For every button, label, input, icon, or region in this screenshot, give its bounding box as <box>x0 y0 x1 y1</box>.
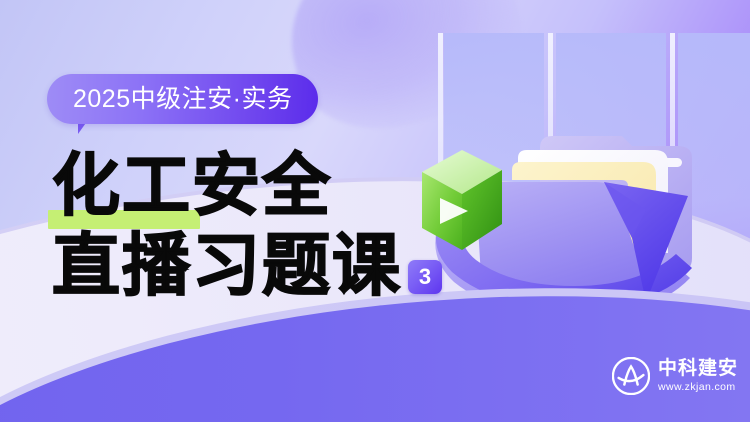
brand-logo: 中科建安 www.zkjan.com <box>612 357 738 395</box>
course-category-pill: 2025中级注安·实务 <box>47 74 318 124</box>
pill-label: 2025中级注安·实务 <box>73 87 292 112</box>
headline-line1: 化工安全 <box>52 148 472 224</box>
headline-line2-row: 直播习题课 3 <box>52 226 472 304</box>
logo-brand-name: 中科建安 <box>658 359 738 378</box>
headline-block: 化工安全 直播习题课 3 <box>52 148 472 304</box>
headline-line1-row: 化工安全 <box>52 148 472 226</box>
headline-line2: 直播习题课 <box>52 228 402 304</box>
episode-number-badge: 3 <box>408 260 442 294</box>
course-banner: 2025中级注安·实务 化工安全 直播习题课 3 中科建安 www.zkjan.… <box>0 0 750 422</box>
zkjan-circle-logo-icon <box>612 357 650 395</box>
logo-text-block: 中科建安 www.zkjan.com <box>658 359 738 393</box>
logo-website-url: www.zkjan.com <box>658 382 738 393</box>
